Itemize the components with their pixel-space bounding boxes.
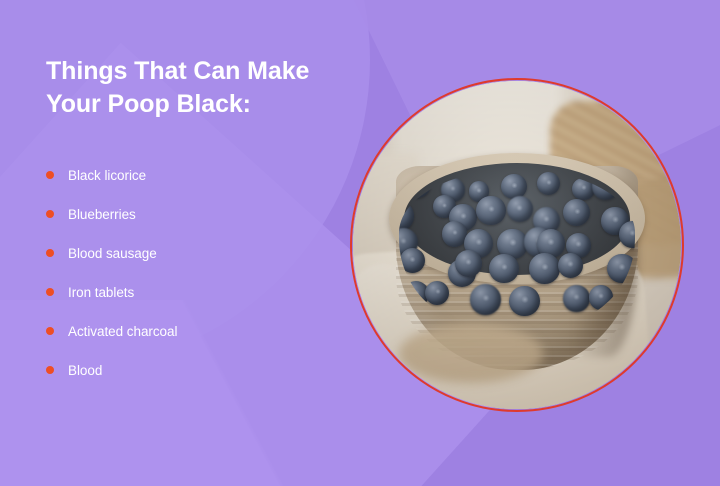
bullet-dot-icon [46, 327, 54, 335]
blueberry [507, 196, 533, 222]
blueberry [619, 221, 635, 248]
blueberry [455, 250, 482, 277]
bullet-dot-icon [46, 249, 54, 257]
page-title: Things That Can Make Your Poop Black: [46, 55, 346, 122]
blueberry [558, 253, 584, 279]
blueberry [607, 254, 635, 284]
causes-list: Black licorice Blueberries Blood sausage… [46, 156, 346, 390]
list-item-label: Activated charcoal [68, 324, 177, 339]
blueberry [470, 284, 500, 314]
blueberry [489, 254, 518, 283]
list-item-label: Iron tablets [68, 285, 134, 300]
photo-blueberry-pile [399, 170, 635, 327]
blueberry [563, 199, 590, 226]
photo-linen-fold [399, 324, 543, 383]
list-item-label: Blueberries [68, 207, 136, 222]
blueberry [537, 172, 560, 195]
list-item: Iron tablets [46, 273, 346, 312]
list-item: Blood sausage [46, 234, 346, 273]
blueberry [563, 285, 589, 311]
list-item: Black licorice [46, 156, 346, 195]
blueberry [509, 286, 539, 316]
bullet-dot-icon [46, 366, 54, 374]
blueberry [400, 248, 425, 273]
blueberry [529, 253, 560, 284]
infographic-card: Things That Can Make Your Poop Black: Bl… [0, 0, 720, 486]
blueberry [589, 285, 614, 310]
blueberry [476, 196, 505, 225]
bullet-dot-icon [46, 210, 54, 218]
list-item: Activated charcoal [46, 312, 346, 351]
list-item: Blueberries [46, 195, 346, 234]
bullet-dot-icon [46, 171, 54, 179]
blueberry [399, 201, 414, 230]
photo-scene [353, 81, 681, 409]
bullet-dot-icon [46, 288, 54, 296]
blueberry-photo [350, 78, 684, 412]
text-column: Things That Can Make Your Poop Black: Bl… [46, 55, 346, 390]
blueberry [403, 170, 431, 198]
list-item: Blood [46, 351, 346, 390]
list-item-label: Blood sausage [68, 246, 157, 261]
list-item-label: Black licorice [68, 168, 146, 183]
list-item-label: Blood [68, 363, 102, 378]
blueberry [425, 281, 449, 305]
photo-circle-mask [353, 81, 681, 409]
